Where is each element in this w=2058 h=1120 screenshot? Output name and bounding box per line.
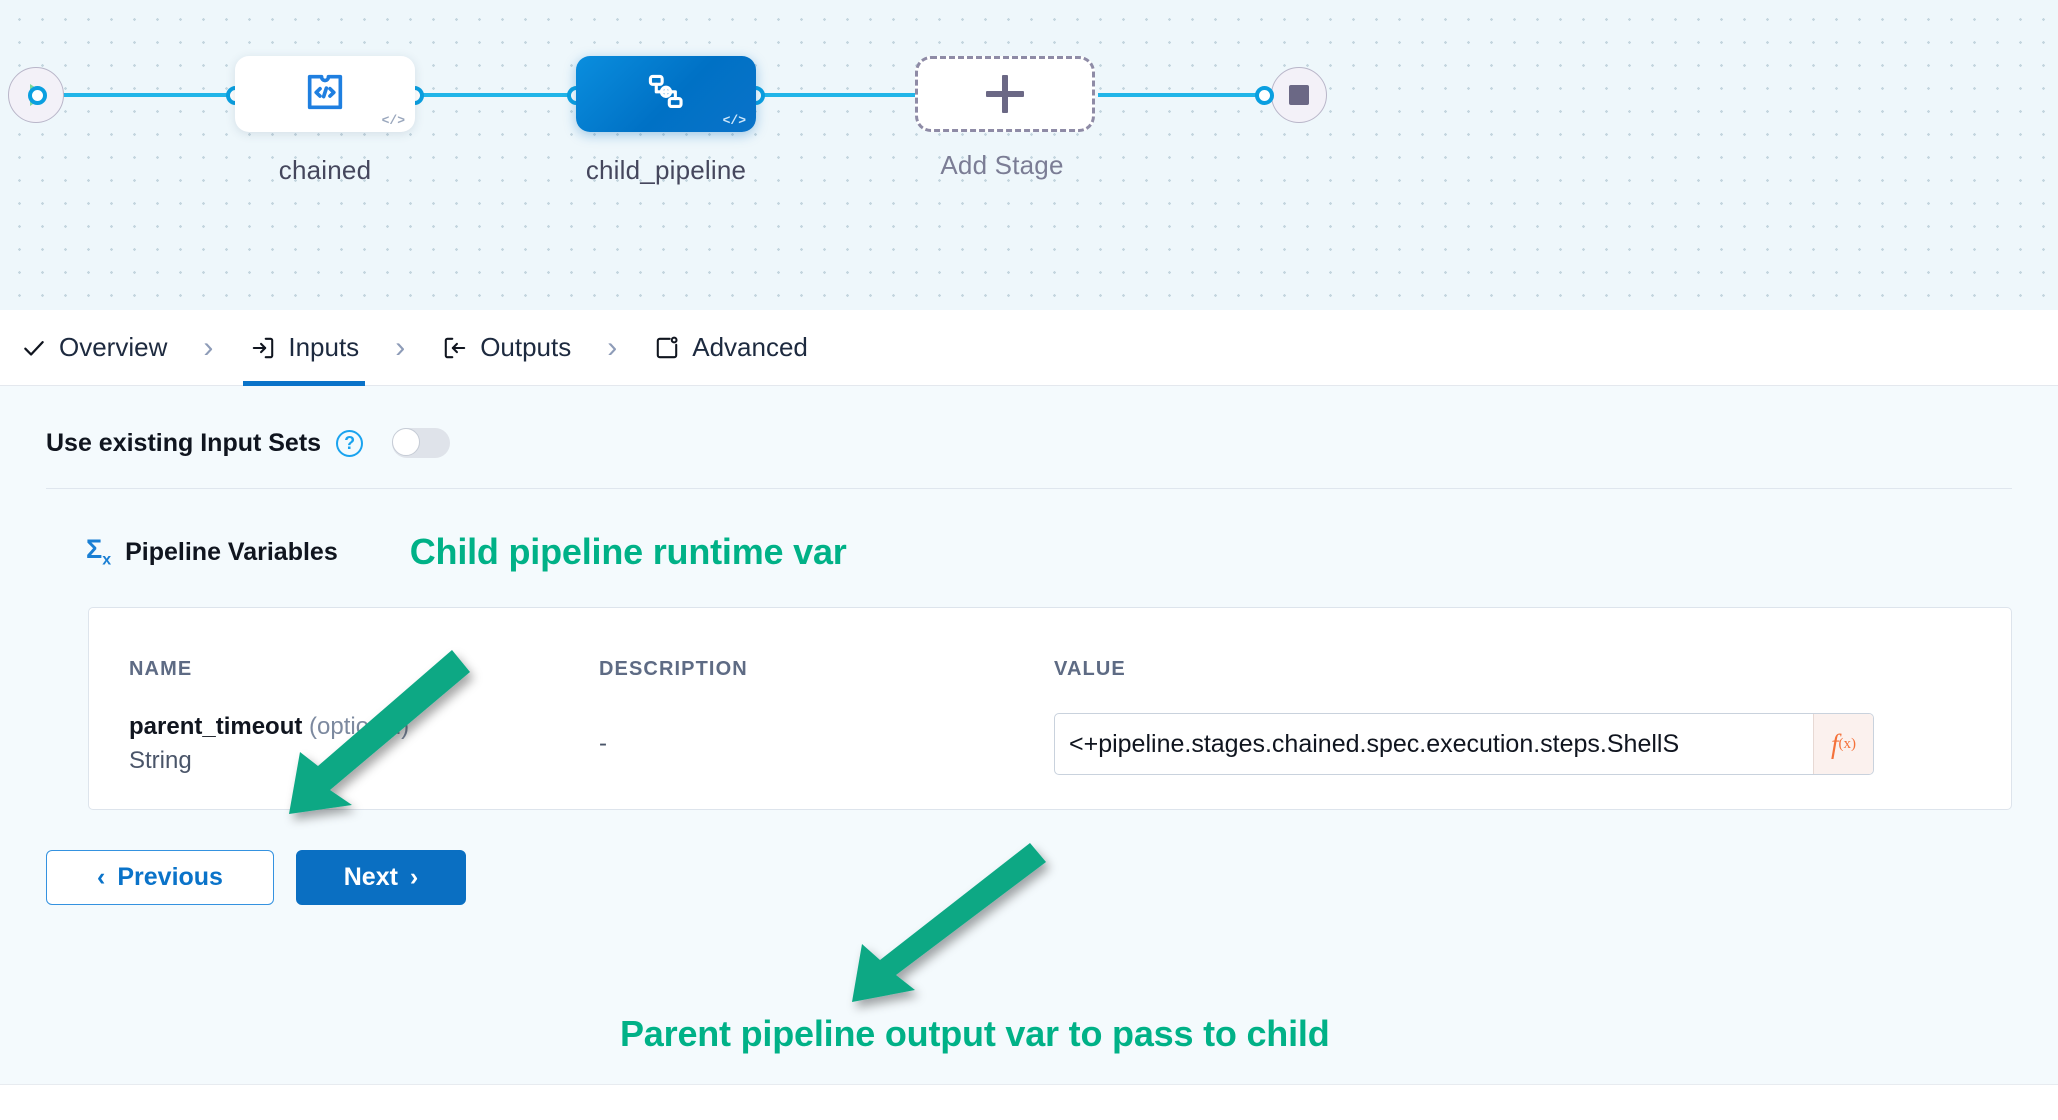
table-header-row: NAME DESCRIPTION VALUE: [89, 608, 2011, 681]
tab-separator-2: ›: [373, 331, 427, 365]
chevron-right-icon: ›: [410, 863, 418, 892]
stage-label-add-stage: Add Stage: [852, 150, 1152, 181]
tab-inputs[interactable]: Inputs: [235, 310, 373, 386]
variable-type: String: [129, 747, 599, 775]
stage-yaml-badge: </>: [723, 114, 746, 127]
annotation-child-runtime-var: Child pipeline runtime var: [410, 531, 847, 573]
inputs-panel: Use existing Input Sets ? Σx Pipeline Va…: [0, 386, 2058, 1120]
outputs-arrow-icon: [441, 334, 469, 362]
expression-fx-button[interactable]: f(x): [1813, 714, 1873, 774]
variable-description: -: [599, 730, 607, 757]
variable-value-input[interactable]: [1055, 714, 1813, 774]
stage-node-child-pipeline[interactable]: </>: [576, 56, 756, 132]
tab-label-inputs: Inputs: [288, 332, 359, 363]
use-existing-input-sets-label: Use existing Input Sets: [46, 429, 321, 458]
advanced-gear-page-icon: [653, 334, 681, 362]
toggle-knob: [392, 428, 420, 456]
fx-sub: (x): [1839, 736, 1857, 753]
wizard-buttons: ‹ Previous Next ›: [0, 810, 2058, 905]
variable-name-cell: parent_timeout (optional) String: [129, 713, 599, 775]
table-row: parent_timeout (optional) String - f(x): [89, 681, 2011, 775]
question-mark-icon[interactable]: ?: [336, 430, 363, 457]
variable-name: parent_timeout: [129, 713, 302, 740]
edge-child-to-addstage: [745, 93, 930, 97]
custom-stage-code-icon: [302, 69, 348, 120]
use-existing-input-sets-row: Use existing Input Sets ?: [0, 386, 2058, 458]
tab-label-overview: Overview: [59, 332, 167, 363]
inputs-arrow-icon: [249, 334, 277, 362]
edge-addstage-to-end: [1098, 93, 1263, 97]
stage-label-child-pipeline: child_pipeline: [516, 155, 816, 186]
footer-strip: [0, 1084, 2058, 1120]
add-stage-node[interactable]: [915, 56, 1095, 132]
tab-overview[interactable]: Overview: [6, 310, 181, 386]
plus-icon: [986, 75, 1024, 113]
column-header-name: NAME: [129, 658, 599, 681]
tab-separator-3: ›: [585, 331, 639, 365]
tab-outputs[interactable]: Outputs: [427, 310, 585, 386]
stop-icon: [1289, 85, 1309, 105]
variable-value-cell: f(x): [1054, 713, 2011, 775]
stage-node-chained[interactable]: </>: [235, 56, 415, 132]
check-icon: [20, 334, 48, 362]
pipeline-variables-table: NAME DESCRIPTION VALUE parent_timeout (o…: [88, 607, 2012, 810]
annotation-parent-output-var: Parent pipeline output var to pass to ch…: [620, 1013, 1329, 1055]
use-existing-input-sets-toggle[interactable]: [392, 428, 450, 458]
pipeline-end-node[interactable]: [1271, 67, 1327, 123]
column-header-value: VALUE: [1054, 658, 2011, 681]
next-button-label: Next: [344, 863, 398, 892]
variable-optional-tag: (optional): [309, 713, 409, 740]
column-header-description: DESCRIPTION: [599, 658, 1054, 681]
variable-value-field[interactable]: f(x): [1054, 713, 1874, 775]
stage-yaml-badge: </>: [382, 114, 405, 127]
previous-button-label: Previous: [117, 863, 223, 892]
variable-description-cell: -: [599, 730, 1054, 758]
step-tab-bar: Overview › Inputs › Outputs ›: [0, 310, 2058, 386]
pipeline-variables-title: Pipeline Variables: [125, 538, 338, 567]
fx-label: f: [1831, 729, 1839, 760]
tab-label-advanced: Advanced: [692, 332, 808, 363]
stage-label-chained: chained: [175, 155, 475, 186]
tab-advanced[interactable]: Advanced: [639, 310, 822, 386]
port-start-out[interactable]: [28, 86, 47, 105]
chevron-left-icon: ‹: [97, 863, 105, 892]
sigma-x-icon: Σx: [86, 536, 111, 568]
edge-start-to-chained: [44, 93, 234, 97]
pipeline-variables-header: Σx Pipeline Variables Child pipeline run…: [0, 489, 2058, 573]
tab-label-outputs: Outputs: [480, 332, 571, 363]
pipeline-chain-icon: [644, 70, 688, 119]
pipeline-canvas[interactable]: </> chained </> child_pipeline Add Stage: [0, 0, 2058, 310]
tab-separator-1: ›: [181, 331, 235, 365]
previous-button[interactable]: ‹ Previous: [46, 850, 274, 905]
next-button[interactable]: Next ›: [296, 850, 466, 905]
port-end-in[interactable]: [1255, 86, 1274, 105]
